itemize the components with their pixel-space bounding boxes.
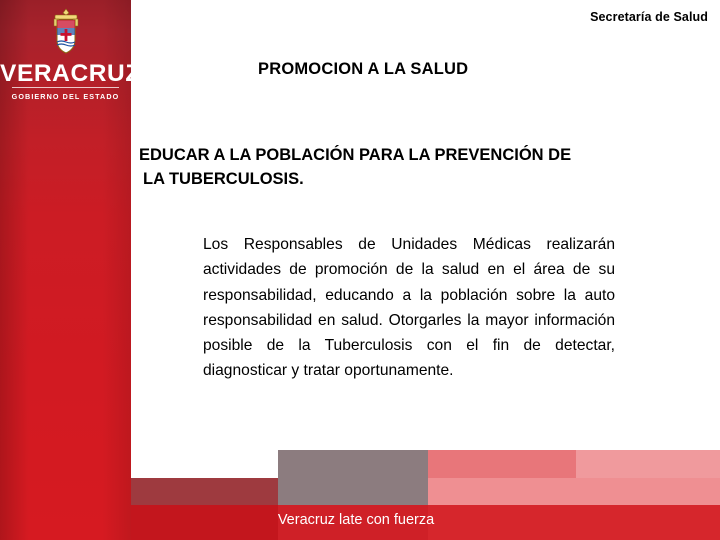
decorative-block-layer	[0, 0, 720, 540]
block-darkred-mid	[131, 478, 278, 505]
block-pink-mid-right	[576, 478, 720, 505]
block-pink-top	[428, 450, 576, 478]
block-pink-mid-left	[428, 478, 576, 505]
footer-slogan: Veracruz late con fuerza	[131, 512, 581, 528]
presentation-slide: VERACRUZ GOBIERNO DEL ESTADO Secretaría …	[0, 0, 720, 540]
block-lightpink-top	[576, 450, 720, 478]
block-red-bottom-r2	[576, 505, 720, 540]
block-gray-top	[278, 450, 428, 478]
block-gray-mid	[278, 478, 428, 505]
